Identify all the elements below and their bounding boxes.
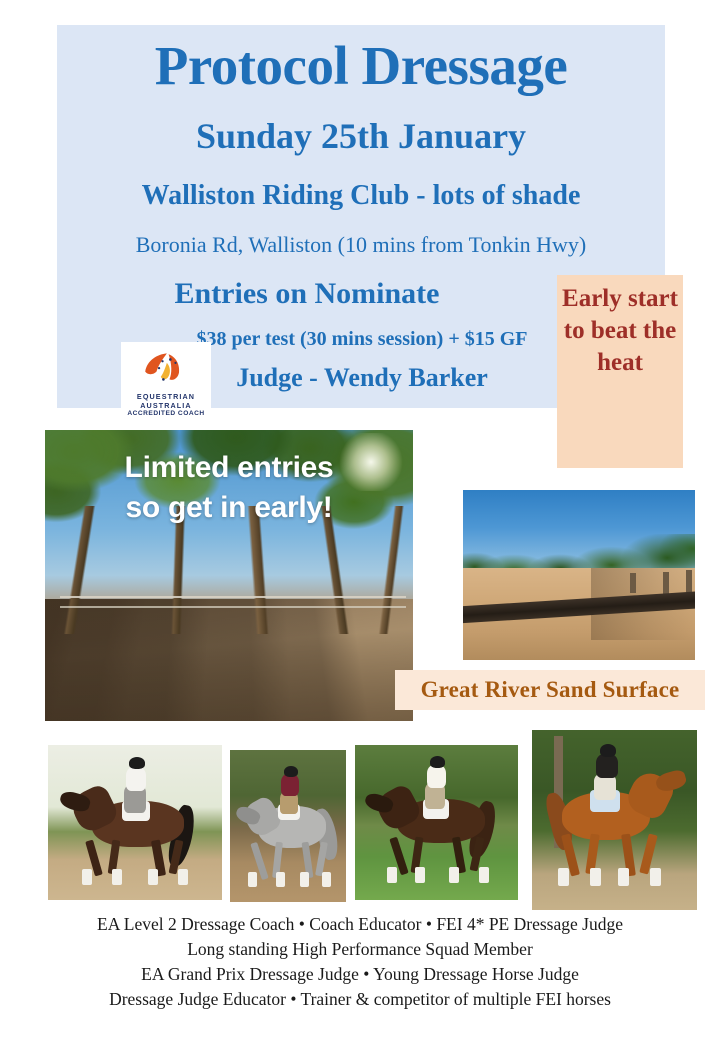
horse-sock	[415, 867, 425, 883]
horse-sock	[650, 868, 661, 886]
arena-fence-post	[630, 573, 636, 593]
horse-sock	[387, 867, 397, 883]
limited-entries-line-2: so get in early!	[126, 491, 333, 524]
fence-rail	[60, 596, 406, 598]
price-info: $38 per test (30 mins session) + $15 GF	[162, 328, 562, 351]
sand-arena-photo	[463, 490, 695, 660]
early-start-callout: Early start to beat the heat	[557, 275, 683, 468]
dressage-photo-4	[532, 730, 697, 910]
horse-sock	[449, 867, 459, 883]
rider-helmet	[284, 766, 298, 777]
rider-helmet	[600, 744, 616, 757]
horse-sock	[558, 868, 569, 886]
credentials-block: EA Level 2 Dressage Coach • Coach Educat…	[0, 912, 720, 1011]
credentials-line-3: EA Grand Prix Dressage Judge • Young Dre…	[0, 962, 720, 987]
horse-head-icon	[140, 348, 192, 390]
judge-info: Judge - Wendy Barker	[162, 363, 562, 393]
equestrian-australia-logo: EQUESTRIAN AUSTRALIA ACCREDITED COACH	[121, 342, 211, 432]
rider-torso	[596, 754, 618, 778]
horse-sock	[322, 872, 331, 887]
ea-logo-line-3: ACCREDITED COACH	[127, 410, 204, 418]
rider-helmet	[129, 757, 145, 769]
horse-sock	[276, 872, 285, 887]
ea-logo-line-1: EQUESTRIAN	[127, 392, 204, 401]
dressage-photo-1	[48, 745, 222, 900]
venue-shade-photo: Limited entries so get in early!	[45, 430, 413, 721]
rider-torso	[126, 767, 146, 791]
horse-sock	[590, 868, 601, 886]
page-title: Protocol Dressage	[57, 37, 665, 95]
horse-sock	[178, 869, 188, 885]
limited-entries-overlay: Limited entries so get in early!	[45, 448, 413, 527]
horse-sock	[148, 869, 158, 885]
venue-name: Walliston Riding Club - lots of shade	[57, 180, 665, 212]
event-date: Sunday 25th January	[57, 117, 665, 157]
limited-entries-line-1: Limited entries	[125, 451, 334, 484]
entries-heading: Entries on Nominate	[57, 277, 557, 312]
horse-sock	[618, 868, 629, 886]
ea-logo-line-2: AUSTRALIA	[127, 401, 204, 410]
horse-sock	[248, 872, 257, 887]
horse-sock	[300, 872, 309, 887]
horse-sock	[112, 869, 122, 885]
horse-sock	[82, 869, 92, 885]
rider-helmet	[430, 756, 445, 768]
fence-rail-lower	[60, 606, 406, 608]
credentials-line-1: EA Level 2 Dressage Coach • Coach Educat…	[0, 912, 720, 937]
horse-sock	[479, 867, 489, 883]
credentials-line-4: Dressage Judge Educator • Trainer & comp…	[0, 987, 720, 1012]
venue-address: Boronia Rd, Walliston (10 mins from Tonk…	[57, 232, 665, 257]
rider-torso	[281, 774, 299, 796]
credentials-line-2: Long standing High Performance Squad Mem…	[0, 937, 720, 962]
rider-torso	[427, 765, 446, 788]
dressage-photo-2	[230, 750, 346, 902]
sand-surface-banner: Great River Sand Surface	[395, 670, 705, 710]
dressage-photo-3	[355, 745, 518, 900]
